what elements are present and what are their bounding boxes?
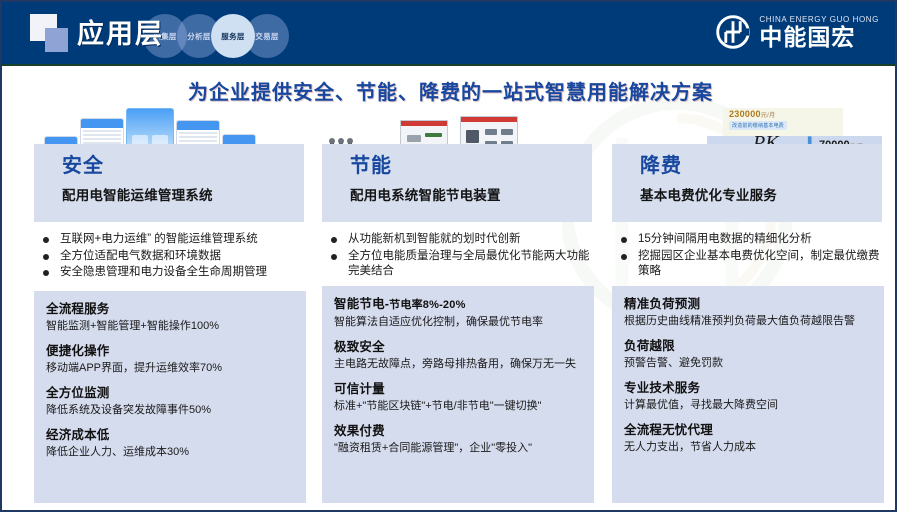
cabinet-top-stripe xyxy=(401,121,447,126)
feature-desc: 降低企业人力、运维成本30% xyxy=(46,445,296,460)
feature-title: 可信计量 xyxy=(334,381,584,398)
feature-desc: 计算最优值，寻找最大降费空间 xyxy=(624,398,874,413)
phone-topbar xyxy=(223,135,255,144)
venn-label-analysis: 分析层 xyxy=(187,31,210,42)
feature-title: 精准负荷预测 xyxy=(624,296,874,313)
feature-desc: 标准+"节能区块链"+节电/非节电"一键切换" xyxy=(334,399,584,414)
cabinet-drawer xyxy=(485,129,497,135)
feature-title: 专业技术服务 xyxy=(624,380,874,397)
bullet-list-energy: 从功能新机到智能就的划时代创新 全方位电能质量治理与全局最优化节能两大功能完美结… xyxy=(322,232,597,281)
logo-squares-icon xyxy=(30,14,74,54)
bullet-text: 安全隐患管理和电力设备全生命周期管理 xyxy=(60,266,267,278)
feature-item: 精准负荷预测 根据历史曲线精准预判负荷最大值负荷越限告警 xyxy=(624,296,874,329)
feature-desc: 无人力支出，节省人力成本 xyxy=(624,440,874,455)
company-logo-icon xyxy=(715,14,751,50)
feature-title: 负荷越限 xyxy=(624,338,874,355)
feature-item: 经济成本低 降低企业人力、运维成本30% xyxy=(46,427,296,460)
venn-circle-service[interactable]: 服务层 xyxy=(211,14,255,58)
feature-box-energy: 智能节电-节电率8%-20% 智能算法自适应优化控制，确保最优节电率 极致安全 … xyxy=(322,286,594,503)
bullet-dot-icon xyxy=(621,254,627,260)
feature-title-suffix: 节电率8%-20% xyxy=(389,299,465,311)
feature-desc: 主电路无故障点，旁路母排热备用，确保万无一失 xyxy=(334,357,584,372)
feature-title: 全流程无忧代理 xyxy=(624,422,874,439)
panel-cost-header: 降费 基本电费优化专业服务 xyxy=(612,144,882,222)
feature-title: 经济成本低 xyxy=(46,427,296,444)
feature-item: 可信计量 标准+"节能区块链"+节电/非节电"一键切换" xyxy=(334,381,584,414)
logo-square-blue xyxy=(45,28,68,52)
cabinet-top-stripe xyxy=(461,117,517,122)
bullet-item: 15分钟间隔用电数据的精细化分析 xyxy=(612,232,887,248)
panel-subtitle-safety: 配用电智能运维管理系统 xyxy=(62,185,304,207)
bullet-text: 从功能新机到智能就的划时代创新 xyxy=(348,233,521,245)
bullet-item: 互联网+电力运维” 的智能运维管理系统 xyxy=(34,232,309,248)
bullet-dot-icon xyxy=(43,254,49,260)
panel-safety-header: 安全 配用电智能运维管理系统 xyxy=(34,144,304,222)
feature-item: 全流程服务 智能监测+智能管理+智能操作100% xyxy=(46,301,296,334)
header-bar: 采集层 分析层 服务层 交易层 应用层 CHINA EN xyxy=(2,2,897,64)
bullet-item: 全方位电能质量治理与全局最优化节能两大功能完美结合 xyxy=(322,249,597,280)
cabinet-display xyxy=(407,135,421,142)
cabinet-display xyxy=(466,130,479,143)
pk-value-before-number: 230000 xyxy=(729,109,761,119)
bullet-text: 15分钟间隔用电数据的精细化分析 xyxy=(638,233,812,245)
column-safety: 安全 配用电智能运维管理系统 互联网+电力运维” 的智能运维管理系统 全方位适配… xyxy=(24,106,309,508)
bullet-item: 安全隐患管理和电力设备全生命周期管理 xyxy=(34,265,309,281)
feature-title: 全流程服务 xyxy=(46,301,296,318)
pk-unit-before: 元/月 xyxy=(761,113,776,119)
slide-canvas: 采集层 分析层 服务层 交易层 应用层 CHINA EN xyxy=(0,0,897,512)
feature-desc: "融资租赁+合同能源管理"，企业"零投入" xyxy=(334,441,584,456)
feature-item: 效果付费 "融资租赁+合同能源管理"，企业"零投入" xyxy=(334,423,584,456)
solution-columns: 安全 配用电智能运维管理系统 互联网+电力运维” 的智能运维管理系统 全方位适配… xyxy=(2,106,897,508)
feature-title: 全方位监测 xyxy=(46,385,296,402)
venn-label-service: 服务层 xyxy=(221,31,244,42)
brand-chinese-name: 中能国宏 xyxy=(759,25,879,50)
feature-title-main: 智能节电- xyxy=(334,297,389,311)
feature-item: 全流程无忧代理 无人力支出，节省人力成本 xyxy=(624,422,874,455)
feature-desc: 降低系统及设备突发故障事件50% xyxy=(46,403,296,418)
page-title: 为企业提供安全、节能、降费的一站式智慧用能解决方案 xyxy=(2,76,897,105)
phone-topbar xyxy=(177,121,219,130)
feature-title: 便捷化操作 xyxy=(46,343,296,360)
pk-chip-before: 改造前的缴纳基本电费 xyxy=(729,121,787,130)
feature-desc: 根据历史曲线精准预判负荷最大值负荷越限告警 xyxy=(624,314,874,329)
feature-item: 智能节电-节电率8%-20% 智能算法自适应优化控制，确保最优节电率 xyxy=(334,296,584,330)
cabinet-panel xyxy=(425,133,442,137)
bullet-text: 全方位适配电气数据和环境数据 xyxy=(60,250,221,262)
layer-venn-diagram: 采集层 分析层 服务层 交易层 xyxy=(143,14,293,58)
layer-title: 应用层 xyxy=(77,12,164,51)
feature-title: 效果付费 xyxy=(334,423,584,440)
bullet-item: 从功能新机到智能就的划时代创新 xyxy=(322,232,597,248)
bullet-item: 全方位适配电气数据和环境数据 xyxy=(34,249,309,265)
bullet-text: 互联网+电力运维” 的智能运维管理系统 xyxy=(60,233,258,245)
column-energy-saving: 节能 配用电系统智能节电装置 从功能新机到智能就的划时代创新 全方位电能质量治理… xyxy=(312,106,597,508)
phone-topbar xyxy=(81,119,123,128)
feature-desc: 移动端APP界面，提升运维效率70% xyxy=(46,361,296,376)
bullet-dot-icon xyxy=(43,237,49,243)
feature-desc: 智能算法自适应优化控制，确保最优节电率 xyxy=(334,315,584,330)
bullet-list-safety: 互联网+电力运维” 的智能运维管理系统 全方位适配电气数据和环境数据 安全隐患管… xyxy=(34,232,309,282)
brand-english-name: CHINA ENERGY GUO HONG xyxy=(759,15,879,25)
bullet-text: 挖掘园区企业基本电费优化空间，制定最优缴费策略 xyxy=(638,250,880,278)
bullet-dot-icon xyxy=(331,237,337,243)
bullet-list-cost: 15分钟间隔用电数据的精细化分析 挖掘园区企业基本电费优化空间，制定最优缴费策略 xyxy=(612,232,887,281)
feature-desc: 预警告警、避免罚款 xyxy=(624,356,874,371)
panel-subtitle-energy: 配用电系统智能节电装置 xyxy=(350,185,592,207)
feature-title: 极致安全 xyxy=(334,339,584,356)
feature-item: 极致安全 主电路无故障点，旁路母排热备用，确保万无一失 xyxy=(334,339,584,372)
bullet-dot-icon xyxy=(331,254,337,260)
bullet-item: 挖掘园区企业基本电费优化空间，制定最优缴费策略 xyxy=(612,249,887,280)
bullet-text: 全方位电能质量治理与全局最优化节能两大功能完美结合 xyxy=(348,250,590,278)
panel-title-cost: 降费 xyxy=(640,151,882,181)
column-cost-reduction: 230000元/月 改造前的缴纳基本电费 PK ⬇ 70000元/月 16000… xyxy=(602,106,887,508)
pk-value-before: 230000元/月 xyxy=(729,109,775,119)
panel-title-safety: 安全 xyxy=(62,151,304,181)
bullet-dot-icon xyxy=(621,237,627,243)
feature-title: 智能节电-节电率8%-20% xyxy=(334,296,584,314)
brand-logo: CHINA ENERGY GUO HONG 中能国宏 xyxy=(715,14,879,50)
feature-desc: 智能监测+智能管理+智能操作100% xyxy=(46,319,296,334)
venn-label-trade: 交易层 xyxy=(255,31,278,42)
feature-item: 专业技术服务 计算最优值，寻找最大降费空间 xyxy=(624,380,874,413)
feature-item: 全方位监测 降低系统及设备突发故障事件50% xyxy=(46,385,296,418)
panel-energy-header: 节能 配用电系统智能节电装置 xyxy=(322,144,592,222)
feature-box-cost: 精准负荷预测 根据历史曲线精准预判负荷最大值负荷越限告警 负荷越限 预警告警、避… xyxy=(612,286,884,503)
bullet-dot-icon xyxy=(43,270,49,276)
feature-item: 负荷越限 预警告警、避免罚款 xyxy=(624,338,874,371)
feature-box-safety: 全流程服务 智能监测+智能管理+智能操作100% 便捷化操作 移动端APP界面，… xyxy=(34,291,306,503)
panel-title-energy: 节能 xyxy=(350,151,592,181)
cabinet-drawer xyxy=(501,129,513,135)
feature-item: 便捷化操作 移动端APP界面，提升运维效率70% xyxy=(46,343,296,376)
panel-subtitle-cost: 基本电费优化专业服务 xyxy=(640,185,882,207)
